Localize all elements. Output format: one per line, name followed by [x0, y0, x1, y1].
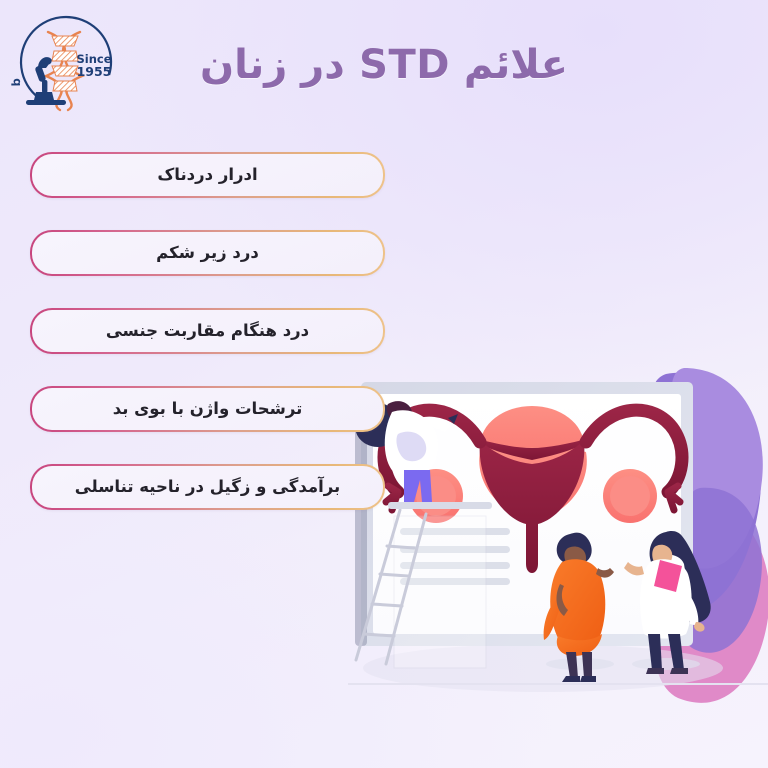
uterus-presentation-scene: [348, 368, 768, 768]
symptom-pill-inner: برآمدگی و زگیل در ناحیه تناسلی: [32, 466, 383, 508]
glass-panel: [394, 516, 486, 668]
symptom-label: درد هنگام مقاربت جنسی: [106, 323, 309, 340]
symptom-label: ادرار دردناک: [157, 167, 257, 184]
infographic-canvas: Armin Pathobiology Lab Sinc: [0, 0, 768, 768]
symptom-label: درد زیر شکم: [156, 245, 259, 262]
page-title: علائم STD در زنان: [0, 42, 768, 88]
symptom-pill-inner: ترشحات واژن با بوی بد: [32, 388, 383, 430]
symptom-pill-4[interactable]: ترشحات واژن با بوی بد: [30, 386, 385, 432]
symptom-pill-5[interactable]: برآمدگی و زگیل در ناحیه تناسلی: [30, 464, 385, 510]
symptom-label: ترشحات واژن با بوی بد: [113, 401, 303, 418]
symptom-label: برآمدگی و زگیل در ناحیه تناسلی: [75, 479, 340, 496]
platform: [388, 502, 492, 509]
symptom-pill-2[interactable]: درد زیر شکم: [30, 230, 385, 276]
symptom-pill-3[interactable]: درد هنگام مقاربت جنسی: [30, 308, 385, 354]
symptom-pill-inner: درد زیر شکم: [32, 232, 383, 274]
symptom-pill-inner: ادرار دردناک: [32, 154, 383, 196]
symptom-pill-1[interactable]: ادرار دردناک: [30, 152, 385, 198]
symptom-list: ادرار دردناک درد زیر شکم درد هنگام مقارب…: [30, 152, 385, 510]
symptom-pill-inner: درد هنگام مقاربت جنسی: [32, 310, 383, 352]
